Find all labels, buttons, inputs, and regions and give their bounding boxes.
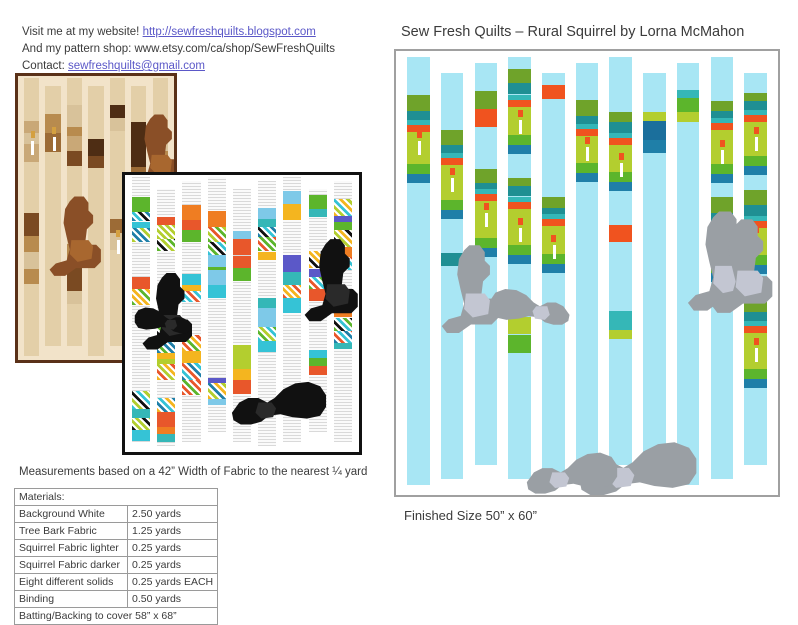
table-row: Eight different solids 0.25 yards EACH (15, 574, 218, 591)
quilt-color-block (208, 270, 226, 286)
quilt-color-block (508, 335, 531, 354)
material-amount: 0.25 yards EACH (128, 574, 218, 591)
table-header-row: Materials: (15, 489, 218, 506)
acorn-detail (31, 131, 35, 138)
quilt-color-block (508, 135, 531, 145)
acorn-detail (518, 218, 523, 225)
quilt-color-block (157, 427, 175, 434)
quilt-color-block (744, 115, 767, 122)
material-item: Squirrel Fabric darker (15, 557, 128, 574)
quilt-color-block (441, 130, 464, 146)
quilt-color-block (283, 255, 301, 272)
quilt-color-block (208, 255, 226, 267)
pattern-shop-line: And my pattern shop: www.etsy.com/ca/sho… (22, 41, 362, 58)
quilt-color-block (576, 163, 599, 173)
contact-label: Contact: (22, 60, 68, 72)
quilt-color-block (157, 398, 175, 413)
materials-table: Materials: Background White 2.50 yards T… (14, 488, 218, 625)
acorn-detail (518, 110, 523, 117)
quilt-color-block (283, 272, 301, 285)
quilt-color-block (24, 213, 39, 236)
email-link[interactable]: sewfreshquilts@gmail.com (68, 60, 205, 72)
acorn-detail (417, 131, 422, 138)
quilt-color-block (132, 391, 150, 409)
material-amount: 1.25 yards (128, 523, 218, 540)
quilt-color-block (711, 164, 734, 174)
measurements-note: Measurements based on a 42” Width of Fab… (19, 466, 367, 478)
trunk-sliver (418, 141, 421, 155)
quilt-color-block (609, 225, 632, 242)
quilt-color-block (233, 239, 251, 256)
material-item: Background White (15, 506, 128, 523)
quilt-color-block (233, 359, 251, 369)
quilt-color-block (677, 98, 700, 112)
trunk-sliver (553, 245, 556, 259)
quilt-color-block (208, 399, 226, 405)
acorn-detail (52, 127, 56, 134)
trunk-sliver (755, 348, 758, 362)
trunk-sliver (519, 228, 522, 242)
contact-info-block: Visit me at my website! http://sewfreshq… (22, 24, 362, 75)
quilt-color-block (24, 236, 39, 251)
squirrel-silhouette (524, 443, 620, 497)
quilt-color-block (233, 268, 251, 281)
quilt-color-block (508, 202, 531, 209)
quilt-diagram-blue (394, 49, 780, 497)
table-row: Squirrel Fabric darker 0.25 yards (15, 557, 218, 574)
materials-header-cell: Materials: (15, 489, 218, 506)
quilt-color-block (208, 227, 226, 242)
quilt-color-block (334, 199, 352, 217)
quilt-color-block (542, 264, 565, 273)
trunk-sliver (117, 240, 120, 254)
quilt-strip (542, 73, 565, 485)
squirrel-silhouette (48, 194, 104, 280)
quilt-color-block (334, 222, 352, 231)
quilt-color-block (744, 326, 767, 333)
quilt-color-block (441, 158, 464, 165)
quilt-color-block (407, 164, 430, 174)
quilt-color-block (67, 105, 82, 128)
material-amount: 0.25 yards (128, 540, 218, 557)
quilt-color-block (110, 105, 125, 119)
quilt-strip (407, 57, 430, 485)
acorn-detail (551, 235, 556, 242)
quilt-color-block (508, 145, 531, 154)
quilt-color-block (475, 194, 498, 201)
quilt-strip (24, 78, 39, 356)
quilt-color-block (258, 252, 276, 261)
quilt-color-block (576, 129, 599, 136)
quilt-color-block (643, 121, 666, 140)
quilt-color-block (542, 197, 565, 208)
squirrel-silhouette (710, 217, 776, 317)
quilt-color-block (132, 212, 150, 221)
quilt-strip (576, 63, 599, 479)
material-item: Eight different solids (15, 574, 128, 591)
quilt-color-block (407, 174, 430, 183)
trunk-sliver (53, 137, 56, 151)
batting-note-cell: Batting/Backing to cover 58” x 68” (15, 608, 218, 625)
quilt-color-block (744, 156, 767, 166)
table-footer-row: Batting/Backing to cover 58” x 68” (15, 608, 218, 625)
quilt-color-block (258, 208, 276, 219)
material-item: Squirrel Fabric lighter (15, 540, 128, 557)
acorn-detail (450, 168, 455, 175)
quilt-color-block (182, 230, 200, 243)
table-row: Tree Bark Fabric 1.25 yards (15, 523, 218, 540)
quilt-color-block (233, 345, 251, 360)
quilt-color-block (508, 69, 531, 83)
quilt-color-block (309, 195, 327, 209)
quilt-color-block (157, 225, 175, 239)
quilt-color-block (182, 205, 200, 220)
quilt-color-block (508, 100, 531, 107)
quilt-color-block (67, 151, 82, 166)
quilt-color-block (407, 111, 430, 120)
trunk-sliver (451, 178, 454, 192)
squirrel-silhouette (229, 373, 329, 429)
quilt-color-block (677, 112, 700, 122)
material-amount: 2.50 yards (128, 506, 218, 523)
material-item: Tree Bark Fabric (15, 523, 128, 540)
trunk-sliver (620, 163, 623, 177)
quilt-color-block (283, 204, 301, 220)
trunk-sliver (586, 147, 589, 161)
quilt-color-block (157, 353, 175, 359)
quilt-color-block (24, 269, 39, 284)
quilt-strip (208, 177, 226, 432)
quilt-color-block (233, 256, 251, 269)
quilt-color-block (258, 327, 276, 341)
quilt-color-block (475, 109, 498, 127)
acorn-detail (585, 137, 590, 144)
quilt-color-block (711, 174, 734, 183)
quilt-strip (609, 57, 632, 465)
quilt-color-block (744, 93, 767, 101)
quilt-color-block (258, 308, 276, 319)
quilt-color-block (208, 211, 226, 227)
quilt-color-block (711, 123, 734, 130)
quilt-color-block (542, 219, 565, 226)
quilt-color-block (132, 228, 150, 242)
quilt-color-block (576, 173, 599, 182)
trunk-sliver (31, 141, 34, 155)
quilt-color-block (309, 209, 327, 217)
quilt-color-block (576, 116, 599, 124)
trunk-sliver (519, 120, 522, 134)
website-label: Visit me at my website! (22, 26, 143, 38)
quilt-color-block (157, 364, 175, 380)
quilt-color-block (609, 138, 632, 145)
website-link[interactable]: http://sewfreshquilts.blogspot.com (143, 26, 316, 38)
squirrel-silhouette (303, 237, 361, 325)
quilt-color-block (258, 237, 276, 251)
quilt-color-block (677, 90, 700, 97)
quilt-color-block (182, 363, 200, 380)
finished-size-caption: Finished Size 50” x 60” (404, 508, 537, 523)
quilt-photo-white (122, 172, 362, 455)
quilt-color-block (609, 112, 632, 122)
quilt-color-block (88, 139, 103, 157)
quilt-color-block (643, 112, 666, 122)
quilt-strip (643, 73, 666, 479)
quilt-color-block (157, 239, 175, 251)
quilt-color-block (609, 311, 632, 330)
table-row: Background White 2.50 yards (15, 506, 218, 523)
quilt-color-block (744, 166, 767, 175)
quilt-color-block (258, 227, 276, 237)
quilt-color-block (258, 298, 276, 308)
quilt-color-block (643, 140, 666, 153)
trunk-sliver (721, 150, 724, 164)
quilt-color-block (67, 127, 82, 136)
quilt-color-block (88, 156, 103, 168)
quilt-color-block (67, 291, 82, 304)
quilt-color-block (182, 220, 200, 230)
quilt-color-block (542, 85, 565, 99)
quilt-color-block (744, 379, 767, 388)
quilt-color-block (283, 191, 301, 205)
squirrel-silhouette (488, 281, 572, 329)
quilt-color-block (67, 136, 82, 150)
quilt-color-block (744, 369, 767, 379)
quilt-color-block (132, 222, 150, 229)
quilt-color-block (157, 434, 175, 442)
trunk-sliver (755, 137, 758, 151)
quilt-color-block (309, 358, 327, 366)
quilt-color-block (182, 380, 200, 395)
table-row: Squirrel Fabric lighter 0.25 yards (15, 540, 218, 557)
quilt-title: Sew Fresh Quilts – Rural Squirrel by Lor… (401, 24, 744, 40)
quilt-color-block (309, 350, 327, 358)
quilt-color-block (609, 330, 632, 339)
quilt-color-block (233, 231, 251, 239)
quilt-color-block (334, 331, 352, 343)
material-item: Binding (15, 591, 128, 608)
quilt-color-block (258, 341, 276, 352)
quilt-color-block (110, 118, 125, 131)
quilt-color-block (208, 285, 226, 297)
quilt-color-block (508, 178, 531, 187)
quilt-color-block (157, 217, 175, 224)
quilt-strip (508, 57, 531, 479)
quilt-color-block (132, 435, 150, 441)
quilt-color-block (508, 186, 531, 196)
quilt-color-block (441, 210, 464, 219)
quilt-color-block (475, 91, 498, 109)
quilt-color-block (407, 95, 430, 111)
squirrel-silhouette (133, 301, 193, 337)
quilt-color-block (258, 219, 276, 227)
trunk-sliver (485, 213, 488, 227)
quilt-color-block (132, 418, 150, 430)
quilt-color-block (157, 412, 175, 427)
quilt-color-block (711, 101, 734, 112)
material-amount: 0.25 yards (128, 557, 218, 574)
quilt-color-block (609, 182, 632, 191)
quilt-color-block (441, 200, 464, 210)
acorn-detail (754, 127, 759, 134)
quilt-color-block (475, 169, 498, 183)
quilt-color-block (132, 197, 150, 213)
quilt-color-block (744, 101, 767, 110)
quilt-color-block (24, 252, 39, 270)
website-line: Visit me at my website! http://sewfreshq… (22, 24, 362, 41)
quilt-color-block (508, 83, 531, 95)
acorn-detail (619, 153, 624, 160)
quilt-color-block (609, 122, 632, 133)
quilt-color-block (258, 319, 276, 327)
acorn-detail (116, 230, 120, 237)
quilt-color-block (576, 100, 599, 116)
quilt-color-block (208, 383, 226, 399)
acorn-detail (484, 203, 489, 210)
quilt-color-block (283, 298, 301, 313)
quilt-color-block (283, 285, 301, 298)
material-amount: 0.50 yards (128, 591, 218, 608)
quilt-color-block (744, 190, 767, 205)
acorn-detail (754, 338, 759, 345)
quilt-color-block (132, 409, 150, 418)
quilt-color-block (508, 245, 531, 255)
quilt-color-block (208, 242, 226, 255)
quilt-color-block (441, 145, 464, 153)
quilt-color-block (508, 255, 531, 264)
acorn-detail (720, 140, 725, 147)
table-row: Binding 0.50 yards (15, 591, 218, 608)
quilt-color-block (334, 343, 352, 350)
